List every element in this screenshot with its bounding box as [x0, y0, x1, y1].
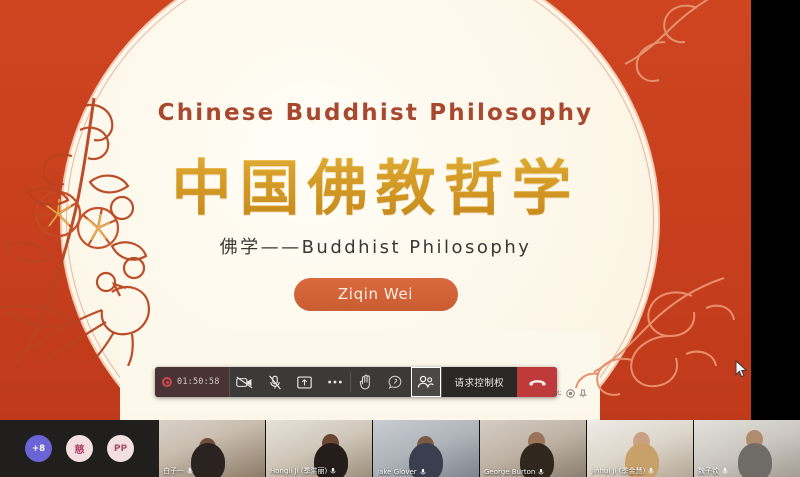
- request-control-button[interactable]: 请求控制权: [441, 367, 518, 397]
- participant-tile-4[interactable]: George Burton: [480, 420, 587, 477]
- microphone-muted-icon-5: [648, 467, 654, 475]
- microphone-muted-icon-4: [538, 468, 544, 476]
- slide-subtitle: 佛学——Buddhist Philosophy: [0, 233, 751, 259]
- meeting-toolbar: 01:50:58: [155, 367, 557, 397]
- pin-badge-icon: [579, 389, 587, 398]
- more-options-button[interactable]: [320, 367, 350, 397]
- camera-off-icon: [236, 376, 253, 389]
- slide-title-chinese: 中国佛教哲学: [0, 140, 751, 227]
- participant-avatar-pp[interactable]: PP: [107, 435, 134, 462]
- microphone-muted-icon-1: [187, 467, 193, 475]
- participant-tile-6[interactable]: 魏子钦: [694, 420, 800, 477]
- presenter-name-pill: Ziqin Wei: [294, 278, 458, 311]
- tile-namebar-6: 魏子钦: [694, 465, 732, 477]
- meeting-timer-label: 01:50:58: [177, 377, 220, 387]
- microphone-muted-icon-6: [722, 467, 728, 475]
- participants-button[interactable]: [411, 367, 441, 397]
- slide-title-english: Chinese Buddhist Philosophy: [0, 100, 751, 126]
- camera-off-button[interactable]: [230, 367, 260, 397]
- participant-tile-3[interactable]: Jake Glover: [373, 420, 480, 477]
- reaction-icon: [388, 375, 403, 390]
- share-indicator-badges: CC: [553, 389, 587, 398]
- share-screen-icon: [297, 376, 312, 389]
- tile-name-4: George Burton: [484, 468, 535, 476]
- tile-name-6: 魏子钦: [698, 466, 719, 476]
- people-icon: [417, 375, 434, 389]
- overflow-avatar[interactable]: +8: [25, 435, 52, 462]
- record-dot-icon: [162, 377, 172, 387]
- tile-namebar-5: Jinhui Ji (季金慧): [587, 465, 658, 477]
- video-tiles: 白子一 Hongli Ji (季洪丽): [159, 420, 800, 477]
- reactions-button[interactable]: [381, 367, 411, 397]
- phone-hangup-icon: [528, 377, 547, 388]
- avatar-group: +8 慈 PP: [0, 420, 159, 477]
- participant-tile-2[interactable]: Hongli Ji (季洪丽): [266, 420, 373, 477]
- mouse-cursor-icon: [735, 360, 748, 378]
- letterbox-right: [751, 0, 800, 420]
- microphone-off-button[interactable]: [260, 367, 290, 397]
- participant-tile-1[interactable]: 白子一: [159, 420, 266, 477]
- participant-tile-5[interactable]: Jinhui Ji (季金慧): [587, 420, 694, 477]
- tile-name-3: Jake Glover: [377, 468, 417, 476]
- participant-filmstrip: +8 慈 PP 白子一: [0, 420, 800, 477]
- tile-namebar-3: Jake Glover: [373, 467, 430, 477]
- hangup-button[interactable]: [517, 367, 557, 397]
- screen-share-window: Chinese Buddhist Philosophy 中国佛教哲学 佛学——B…: [0, 0, 800, 477]
- microphone-muted-icon-2: [330, 467, 336, 475]
- tile-namebar-4: George Burton: [480, 467, 548, 477]
- raise-hand-button[interactable]: [351, 367, 381, 397]
- shared-slide[interactable]: Chinese Buddhist Philosophy 中国佛教哲学 佛学——B…: [0, 0, 751, 420]
- tile-name-1: 白子一: [163, 466, 184, 476]
- tile-namebar-2: Hongli Ji (季洪丽): [266, 465, 340, 477]
- ellipsis-icon: [327, 379, 343, 385]
- recording-timer: 01:50:58: [155, 367, 230, 397]
- tile-namebar-1: 白子一: [159, 465, 197, 477]
- tile-name-2: Hongli Ji (季洪丽): [270, 466, 327, 476]
- stop-sharing-badge-icon: [566, 389, 575, 398]
- cc-badge-icon: CC: [553, 391, 562, 397]
- raise-hand-icon: [359, 374, 373, 390]
- tile-body-6: [738, 443, 772, 477]
- tile-name-5: Jinhui Ji (季金慧): [591, 466, 645, 476]
- participant-avatar-cn[interactable]: 慈: [66, 435, 93, 462]
- share-screen-button[interactable]: [290, 367, 320, 397]
- presenter-row: Ziqin Wei: [0, 278, 751, 311]
- microphone-off-icon: [268, 375, 282, 390]
- microphone-muted-icon-3: [420, 468, 426, 476]
